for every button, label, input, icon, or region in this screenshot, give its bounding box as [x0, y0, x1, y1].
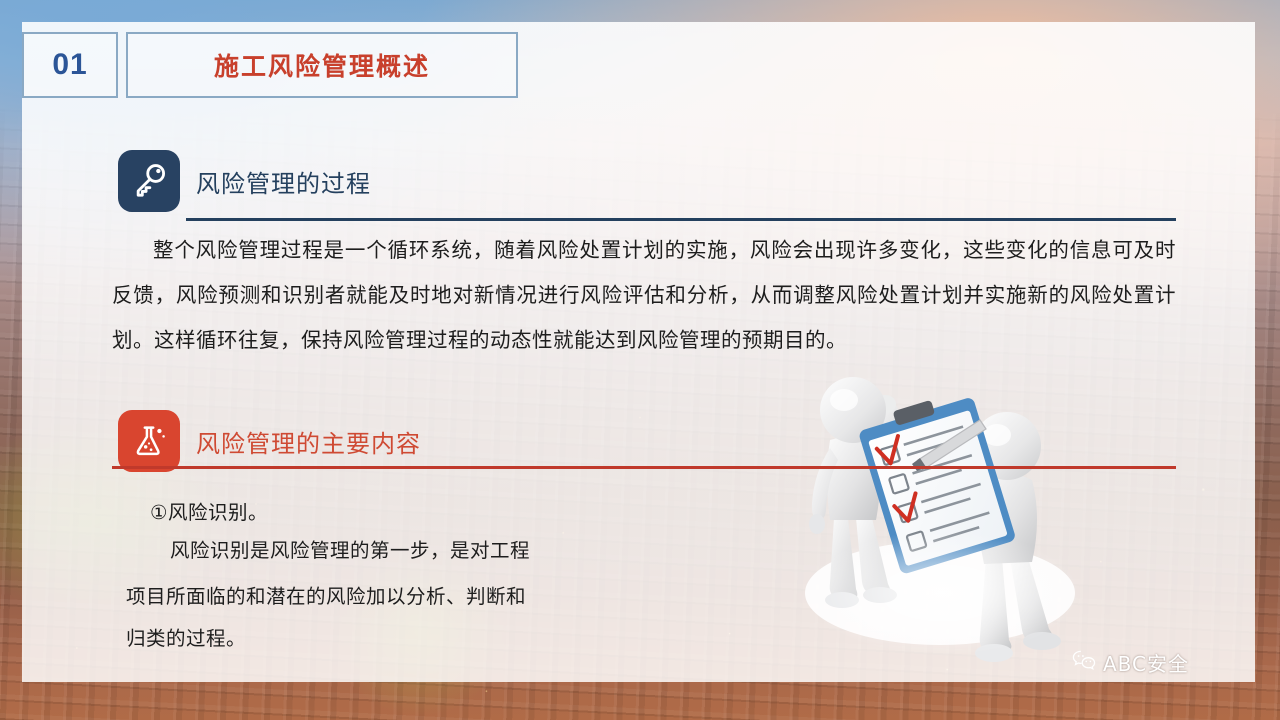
watermark-text: ABC安全: [1103, 648, 1189, 677]
slide-header: 01 施工风险管理概述: [22, 32, 518, 98]
section-heading-process: 风险管理的过程: [118, 150, 371, 212]
section-number: 01: [52, 48, 87, 82]
watermark: ABC安全: [1072, 648, 1189, 677]
section-title-box: 施工风险管理概述: [126, 32, 518, 98]
slide-root: 01 施工风险管理概述 风险管理的过程 整个风险管理过程是一个循环系统，随着风险…: [0, 0, 1280, 720]
illustration-3d-figures-checklist: [790, 368, 1100, 668]
paragraph-risk-management-process: 整个风险管理过程是一个循环系统，随着风险处置计划的实施，风险会出现许多变化，这些…: [112, 228, 1176, 363]
section-label-process: 风险管理的过程: [196, 164, 371, 199]
section-label-content: 风险管理的主要内容: [196, 424, 421, 459]
list-item-1: ①风险识别。: [150, 494, 710, 532]
page-title: 施工风险管理概述: [214, 47, 430, 83]
section-rule-red: [112, 466, 1176, 469]
section-number-box: 01: [22, 32, 118, 98]
illustration-ground-shadow: [800, 528, 1085, 658]
section-rule-navy: [186, 218, 1176, 221]
list-item-3: 项目所面临的和潜在的风险加以分析、判断和: [126, 578, 726, 616]
list-item-4: 归类的过程。: [126, 620, 726, 658]
key-icon: [118, 150, 180, 212]
flask-icon: [118, 410, 180, 472]
section-heading-content: 风险管理的主要内容: [118, 410, 421, 472]
list-item-2: 风险识别是风险管理的第一步，是对工程: [150, 532, 710, 570]
wechat-icon: [1072, 649, 1096, 676]
